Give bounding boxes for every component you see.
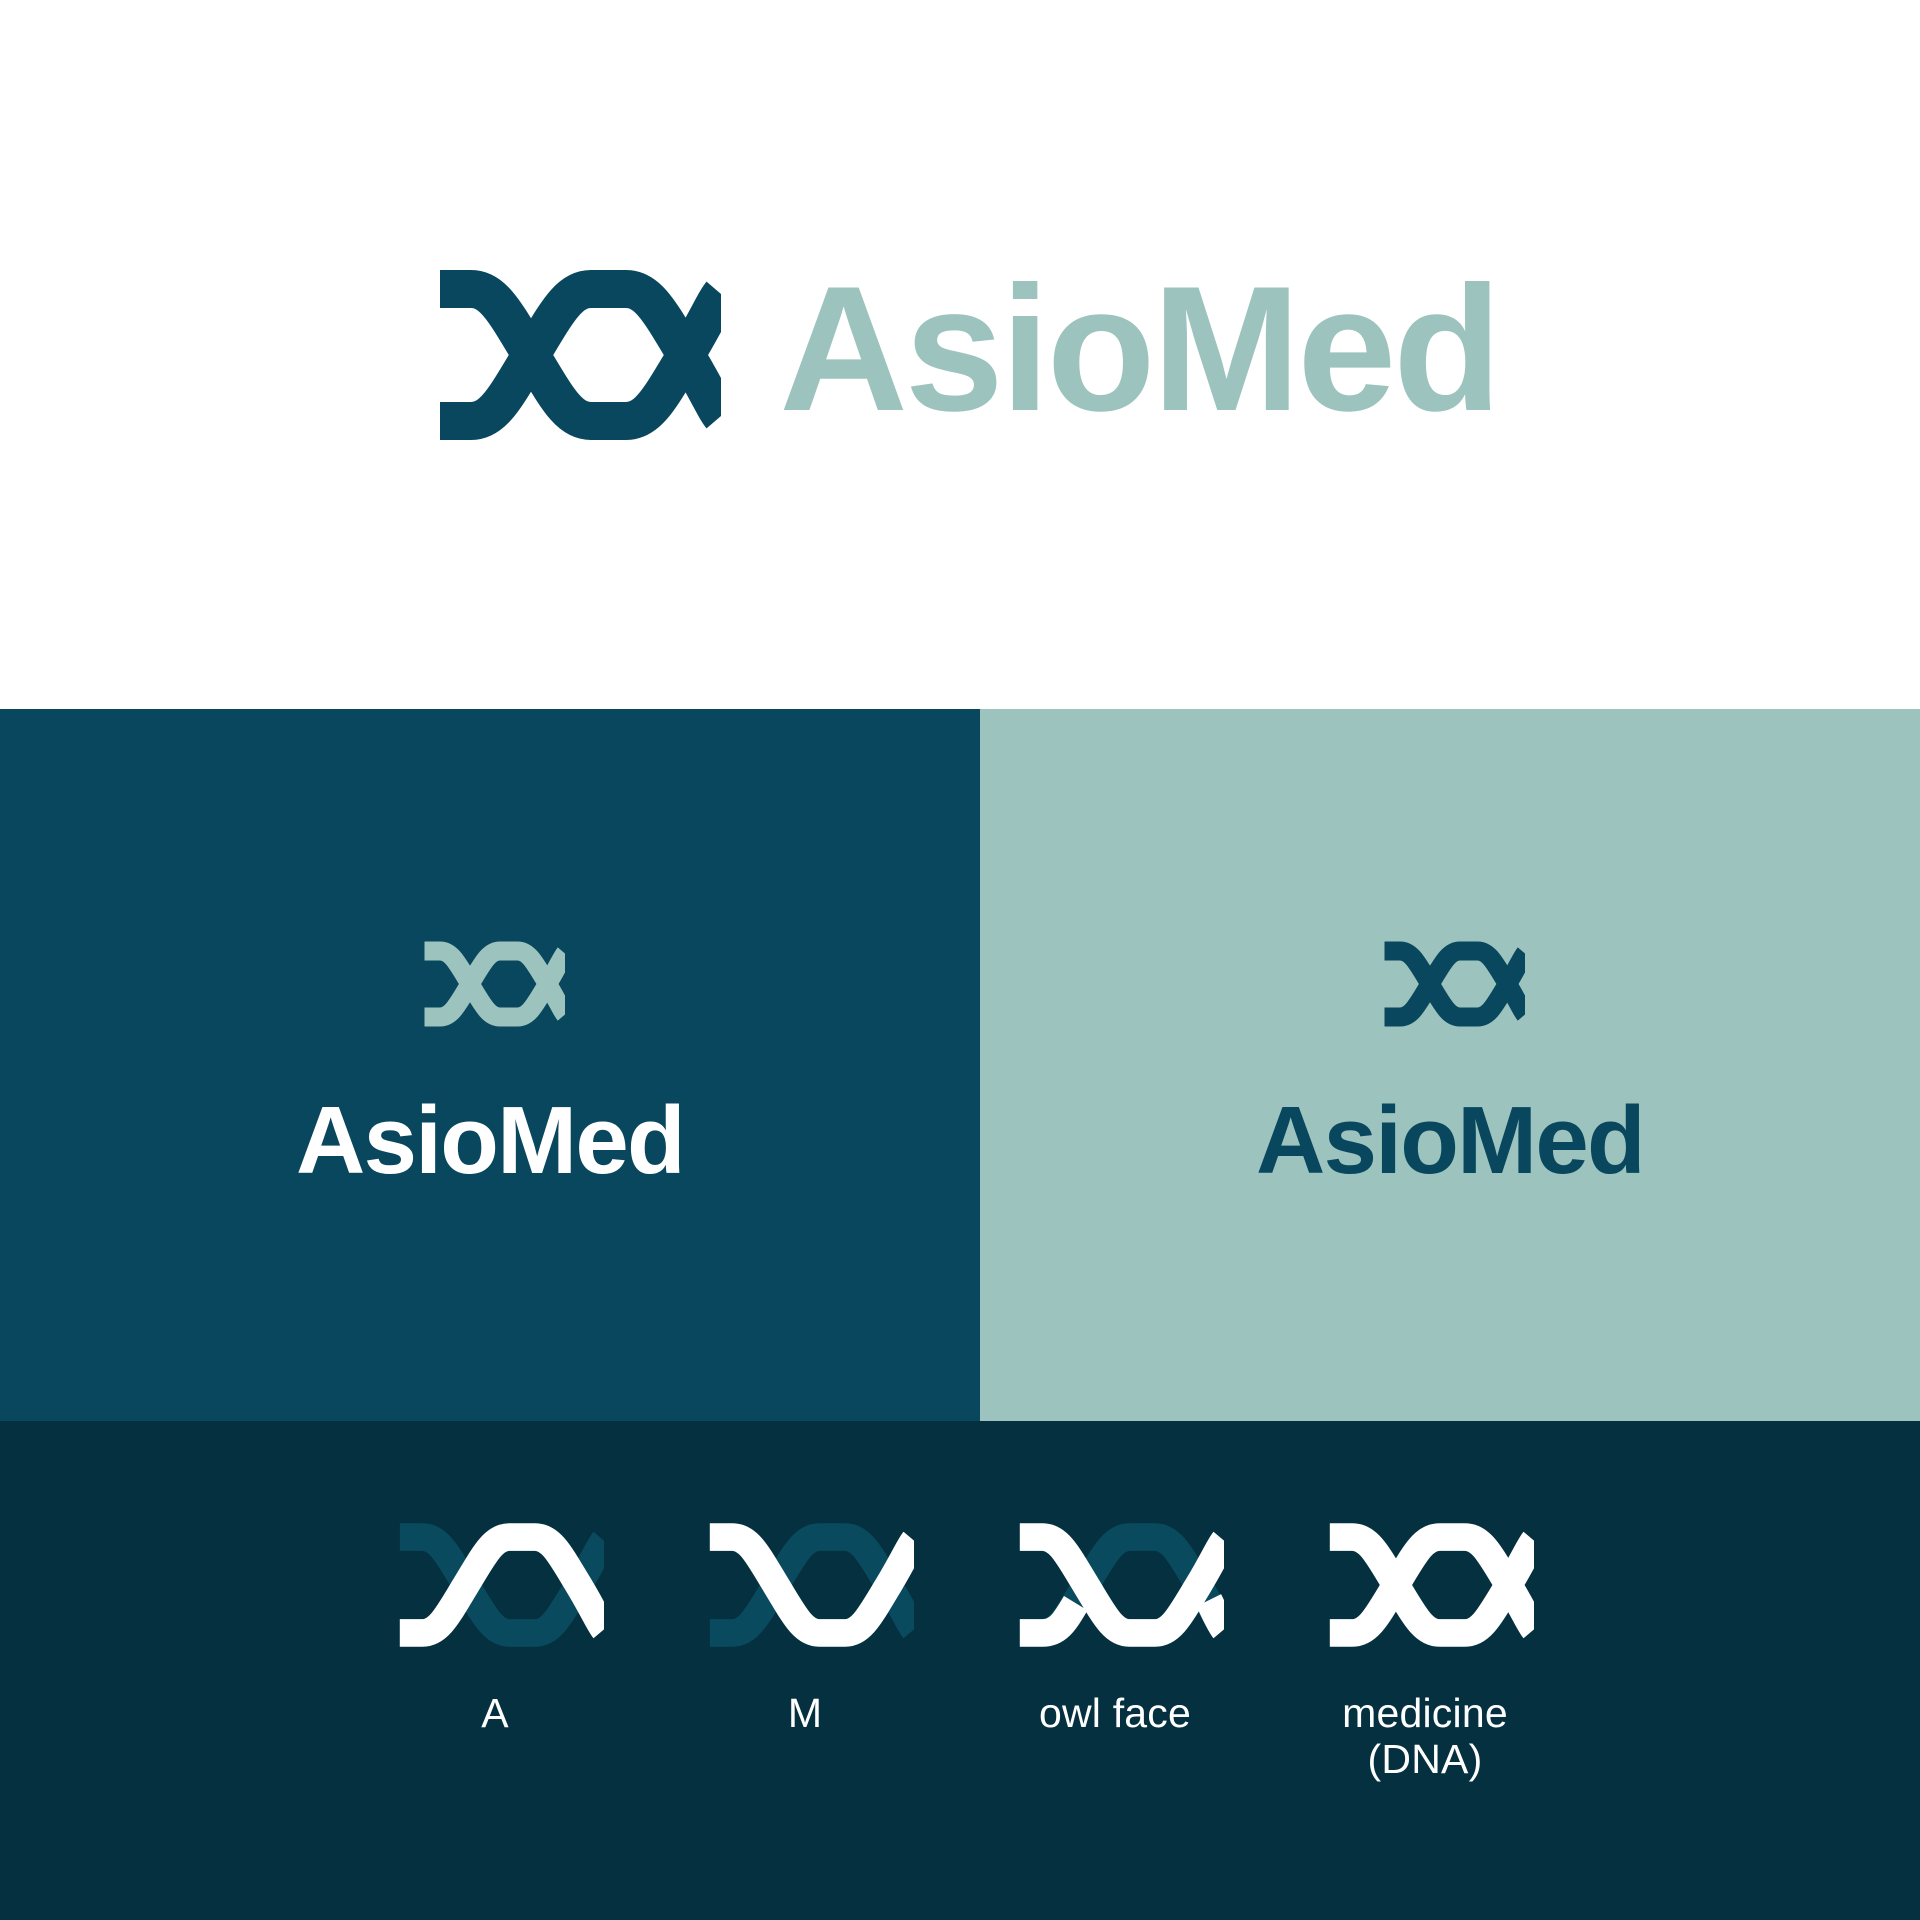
panel-logo-on-sage: AsioMed bbox=[980, 709, 1920, 1421]
mark-variant-letter-a: A bbox=[340, 1523, 650, 1737]
wordmark-on-dark: AsioMed bbox=[296, 1093, 684, 1189]
mark-variant-letter-m-icon bbox=[696, 1523, 914, 1647]
mark-variant-owl-face-label: owl face bbox=[1039, 1691, 1191, 1737]
variant-label-line1: owl face bbox=[1039, 1690, 1191, 1736]
wordmark-on-sage: AsioMed bbox=[1256, 1093, 1644, 1189]
panel-primary-lockup: AsioMed bbox=[0, 0, 1920, 709]
wordmark-primary: AsioMed bbox=[779, 260, 1498, 438]
mark-variant-letter-m: M bbox=[650, 1523, 960, 1737]
mark-variant-medicine-dna-icon bbox=[1316, 1523, 1534, 1647]
mark-variant-letter-a-label: A bbox=[481, 1691, 509, 1737]
mark-variants-row: A M bbox=[0, 1421, 1920, 1920]
double-helix-xx-mark-icon-sage bbox=[415, 941, 565, 1027]
logo-lockup-horizontal: AsioMed bbox=[0, 0, 1920, 709]
double-helix-xx-mark-icon-teal bbox=[1375, 941, 1525, 1027]
brand-presentation-board: AsioMed AsioMed bbox=[0, 0, 1920, 1920]
mark-variant-letter-a-icon bbox=[386, 1523, 604, 1647]
panel-mark-variants: A M bbox=[0, 1421, 1920, 1920]
mark-variant-medicine-dna: medicine (DNA) bbox=[1270, 1523, 1580, 1783]
mark-variant-letter-m-label: M bbox=[788, 1691, 822, 1737]
variant-label-line2: (DNA) bbox=[1342, 1737, 1508, 1783]
double-helix-xx-mark-icon bbox=[421, 270, 721, 440]
logo-lockup-stacked-on-sage: AsioMed bbox=[980, 709, 1920, 1421]
mark-variant-owl-face: owl face bbox=[960, 1523, 1270, 1737]
variant-label-line1: A bbox=[481, 1690, 509, 1736]
mark-variant-owl-face-icon bbox=[1006, 1523, 1224, 1647]
panel-logo-on-dark: AsioMed bbox=[0, 709, 980, 1421]
variant-label-line1: medicine bbox=[1342, 1690, 1508, 1736]
mark-variant-medicine-dna-label: medicine (DNA) bbox=[1342, 1691, 1508, 1783]
logo-lockup-stacked-on-dark: AsioMed bbox=[0, 709, 980, 1421]
variant-label-line1: M bbox=[788, 1690, 822, 1736]
